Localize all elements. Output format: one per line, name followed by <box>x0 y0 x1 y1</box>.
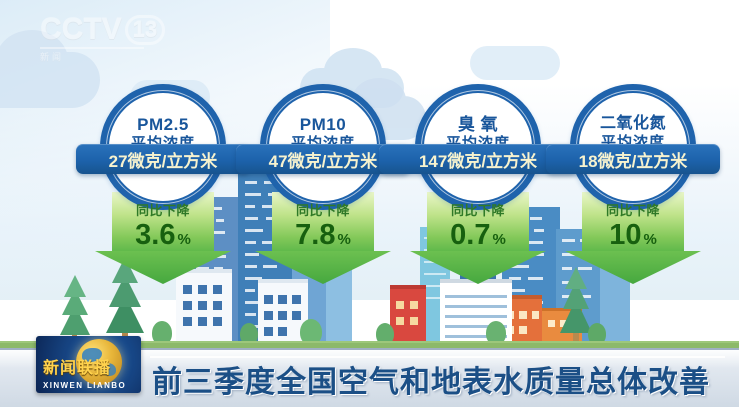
channel-name: CCTV <box>40 13 122 46</box>
decline-text: 同比下降 0.7% <box>427 200 529 255</box>
decline-arrow: 同比下降 10% <box>582 192 684 284</box>
percent-symbol: % <box>177 231 190 248</box>
metric-card-pm25: 同比下降 3.6% PM2.5 平均浓度 27微克/立方米 <box>78 84 248 284</box>
news-banner: 新闻联播 XINWEN LIANBO 前三季度全国空气和地表水质量总体改善 <box>0 348 739 407</box>
metric-name: PM2.5 <box>109 115 217 135</box>
program-name-en: XINWEN LIANBO <box>43 381 126 390</box>
watermark-underline <box>40 47 144 49</box>
decline-value: 10% <box>582 220 684 255</box>
arrow-head <box>565 251 701 284</box>
decline-text: 同比下降 3.6% <box>112 200 214 255</box>
program-logo: 新闻联播 XINWEN LIANBO <box>36 336 141 393</box>
metric-value-pill: 27微克/立方米 <box>76 144 250 174</box>
decline-value: 0.7% <box>427 220 529 255</box>
broadcast-graphic: CCTV13 新闻 <box>0 0 739 407</box>
headline-text: 前三季度全国空气和地表水质量总体改善 <box>152 356 727 402</box>
decline-caption: 同比下降 <box>427 200 529 219</box>
metric-card-ozone: 同比下降 0.7% 臭 氧 平均浓度 147微克/立方米 <box>393 84 563 284</box>
channel-sub-label: 新闻 <box>40 50 210 63</box>
decline-text: 同比下降 10% <box>582 200 684 255</box>
percent-symbol: % <box>643 231 656 248</box>
metric-value-pill: 18微克/立方米 <box>546 144 720 174</box>
metric-name: 二氧化氮 <box>579 115 687 134</box>
metric-name: PM10 <box>269 115 377 135</box>
decline-value: 3.6% <box>112 220 214 255</box>
building <box>390 285 426 345</box>
arrow-head <box>95 251 231 284</box>
cloud-icon <box>470 46 560 80</box>
channel-logo-text: CCTV13 <box>40 14 210 46</box>
decline-value: 7.8% <box>272 220 374 255</box>
decline-arrow: 同比下降 7.8% <box>272 192 374 284</box>
channel-watermark: CCTV13 新闻 <box>40 14 210 56</box>
metric-name: 臭 氧 <box>424 115 532 135</box>
decline-caption: 同比下降 <box>582 200 684 219</box>
metric-card-pm10: 同比下降 7.8% PM10 平均浓度 47微克/立方米 <box>238 84 408 284</box>
decline-caption: 同比下降 <box>272 200 374 219</box>
percent-symbol: % <box>492 231 505 248</box>
decline-caption: 同比下降 <box>112 200 214 219</box>
arrow-head <box>255 251 391 284</box>
decline-arrow: 同比下降 0.7% <box>427 192 529 284</box>
decline-text: 同比下降 7.8% <box>272 200 374 255</box>
program-name-cn: 新闻联播 <box>43 354 111 378</box>
arrow-head <box>410 251 546 284</box>
percent-symbol: % <box>337 231 350 248</box>
channel-number: 13 <box>125 15 165 45</box>
metric-card-no2: 同比下降 10% 二氧化氮 平均浓度 18微克/立方米 <box>548 84 718 284</box>
decline-arrow: 同比下降 3.6% <box>112 192 214 284</box>
